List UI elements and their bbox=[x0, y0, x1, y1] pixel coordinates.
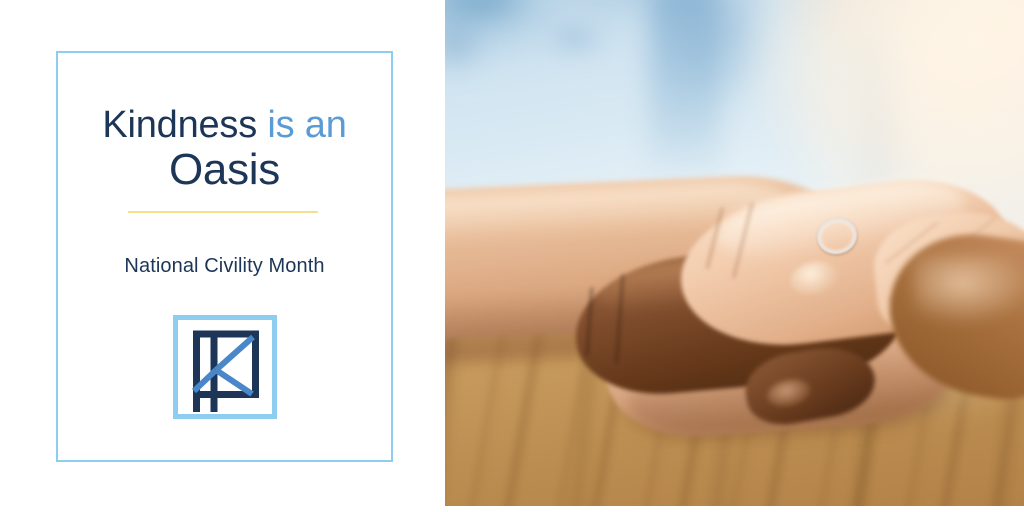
subtitle-text: National Civility Month bbox=[58, 253, 391, 279]
left-text-panel: Kindness is an Oasis National Civility M… bbox=[0, 0, 445, 512]
headline-word-kindness: Kindness bbox=[102, 104, 257, 146]
headline-block: Kindness is an Oasis bbox=[58, 103, 391, 195]
headline-word-is-an: is an bbox=[257, 104, 347, 146]
card-frame: Kindness is an Oasis National Civility M… bbox=[56, 51, 393, 462]
gold-divider bbox=[128, 211, 318, 213]
headline-line-1: Kindness is an bbox=[58, 103, 391, 147]
photo-background-post bbox=[650, 0, 720, 180]
right-hand-highlight bbox=[914, 255, 1024, 325]
clasped-hands-photo bbox=[445, 0, 1024, 506]
k-monogram-logo bbox=[173, 315, 277, 419]
headline-line-2: Oasis bbox=[58, 145, 391, 195]
poster-canvas: Kindness is an Oasis National Civility M… bbox=[0, 0, 1024, 512]
